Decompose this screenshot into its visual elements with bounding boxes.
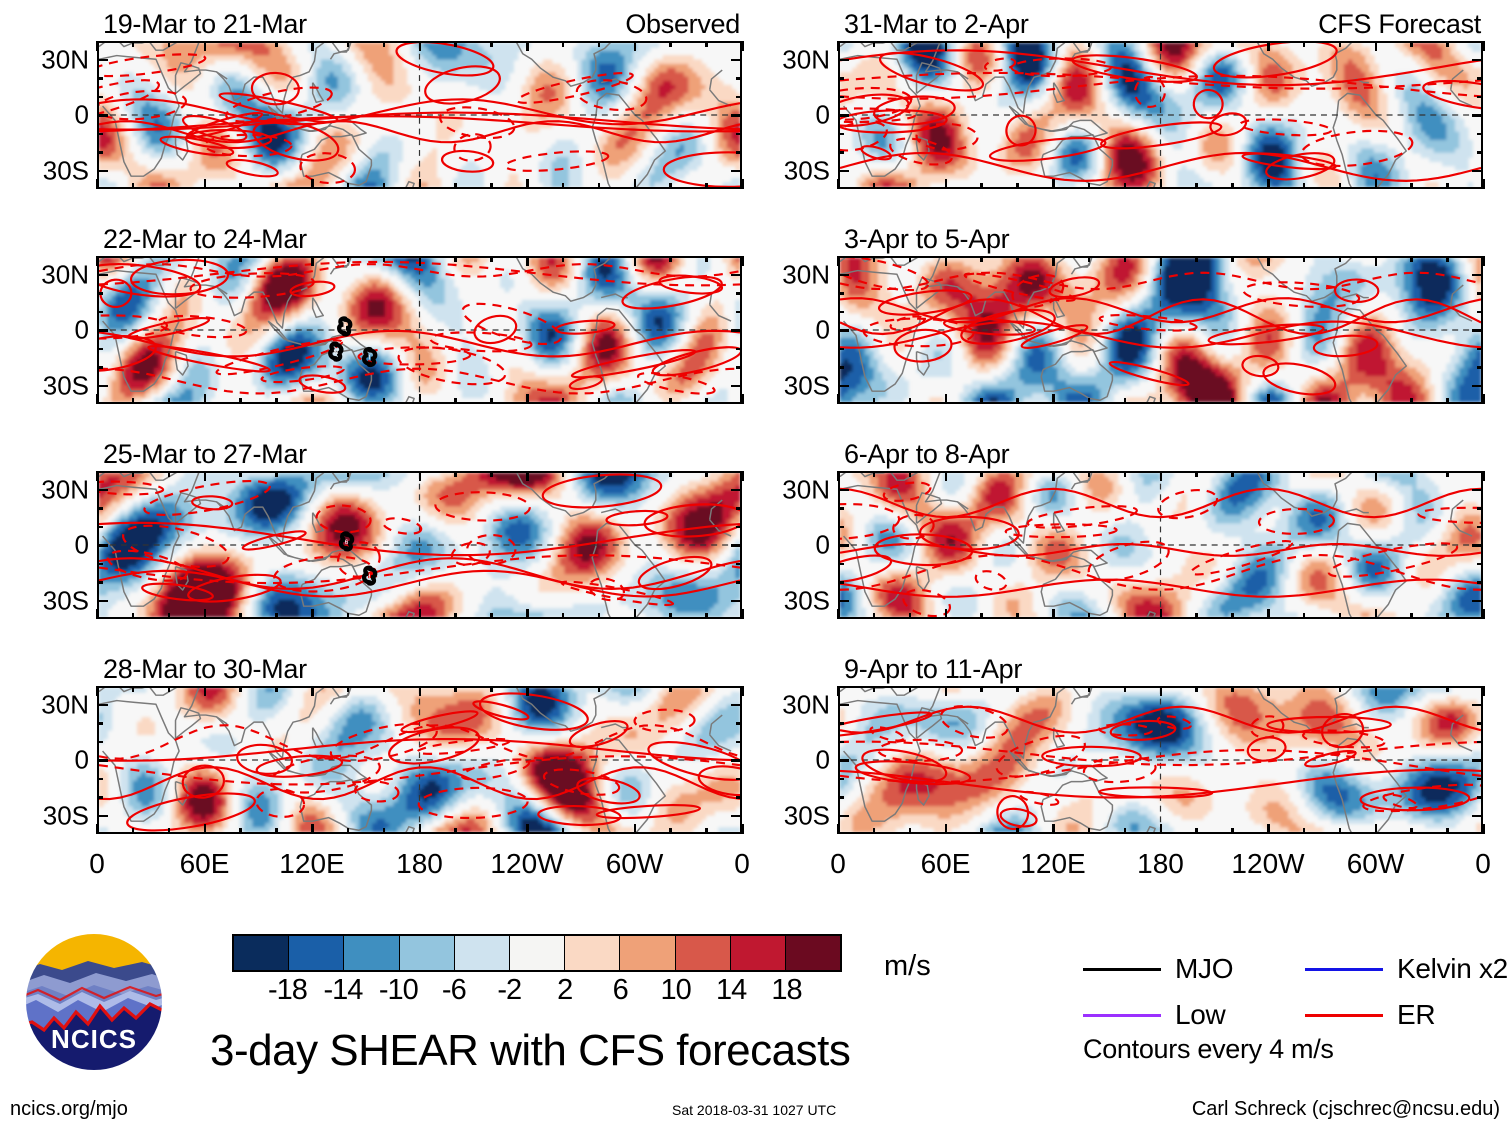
x-tick: [980, 828, 983, 834]
x-tick: [1124, 256, 1127, 262]
x-tick: [945, 179, 948, 189]
x-tick: [383, 613, 386, 619]
y-tick: [1477, 741, 1483, 744]
x-tick: [1446, 471, 1449, 477]
y-tick: [736, 96, 742, 99]
y-axis-tick-label: 0: [742, 745, 830, 776]
y-tick: [97, 704, 108, 707]
colorbar-units-label: m/s: [884, 950, 931, 983]
x-tick: [275, 398, 278, 404]
x-tick: [598, 183, 601, 189]
x-tick: [1303, 828, 1306, 834]
x-tick: [1267, 256, 1270, 266]
y-tick: [736, 77, 742, 80]
x-tick: [562, 41, 565, 47]
y-tick: [736, 778, 742, 781]
y-axis-tick-label: 0: [742, 315, 830, 346]
x-tick: [311, 824, 314, 834]
y-tick: [1477, 366, 1483, 369]
y-tick: [838, 759, 849, 762]
y-tick: [731, 170, 742, 173]
x-tick: [1016, 398, 1019, 404]
x-tick: [490, 828, 493, 834]
shear-anomaly-field: [840, 258, 1481, 402]
legend-line-swatch: [1305, 968, 1383, 971]
colorbar-tick-label: 6: [613, 974, 628, 1007]
y-tick: [838, 796, 844, 799]
x-tick: [1160, 394, 1163, 404]
y-axis-tick-label: 30S: [742, 800, 830, 831]
x-tick: [669, 183, 672, 189]
y-tick: [97, 815, 108, 818]
x-tick: [1195, 183, 1198, 189]
x-tick: [1339, 256, 1342, 262]
x-tick: [1088, 41, 1091, 47]
x-tick: [311, 256, 314, 266]
y-tick: [731, 114, 742, 117]
x-tick: [1446, 828, 1449, 834]
x-tick: [1160, 471, 1163, 481]
x-tick: [909, 686, 912, 692]
x-tick: [419, 609, 422, 619]
y-tick: [838, 96, 844, 99]
x-tick: [1231, 828, 1234, 834]
y-tick: [97, 59, 108, 62]
y-tick: [1477, 563, 1483, 566]
x-tick: [275, 828, 278, 834]
y-tick: [97, 292, 103, 295]
y-tick: [838, 741, 844, 744]
x-tick: [383, 828, 386, 834]
x-axis-tick-label: 120E: [1020, 848, 1085, 880]
y-tick: [736, 311, 742, 314]
x-tick: [1303, 183, 1306, 189]
panel-title: 19-Mar to 21-Mar: [103, 9, 307, 40]
x-tick: [490, 686, 493, 692]
y-tick: [97, 311, 103, 314]
x-tick: [1124, 686, 1127, 692]
y-tick: [838, 274, 849, 277]
x-tick: [1160, 41, 1163, 51]
y-tick: [838, 366, 844, 369]
x-tick: [96, 256, 99, 266]
x-tick: [311, 41, 314, 51]
x-tick: [598, 613, 601, 619]
x-tick: [1303, 471, 1306, 477]
y-axis-tick-label: 30S: [1, 585, 89, 616]
x-tick: [1160, 609, 1163, 619]
panel-grid: 19-Mar to 21-MarObserved22-Mar to 24-Mar…: [0, 0, 1510, 900]
x-tick: [1410, 471, 1413, 477]
panel-title: 31-Mar to 2-Apr: [844, 9, 1029, 40]
x-tick: [490, 256, 493, 262]
x-tick: [204, 179, 207, 189]
x-tick: [1231, 398, 1234, 404]
x-tick: [980, 613, 983, 619]
x-tick: [1195, 613, 1198, 619]
x-tick: [132, 398, 135, 404]
y-axis-tick-label: 0: [1, 530, 89, 561]
y-tick: [838, 133, 844, 136]
x-tick: [454, 686, 457, 692]
map-frame: [97, 686, 742, 834]
x-tick: [598, 41, 601, 47]
x-tick: [1052, 256, 1055, 266]
x-axis-tick-label: 60W: [1347, 848, 1405, 880]
x-tick: [1446, 398, 1449, 404]
footer-website[interactable]: ncics.org/mjo: [10, 1098, 128, 1121]
x-tick: [1124, 613, 1127, 619]
x-tick: [419, 256, 422, 266]
panel-title: 28-Mar to 30-Mar: [103, 654, 307, 685]
x-tick: [1088, 183, 1091, 189]
y-tick: [1472, 385, 1483, 388]
x-tick: [454, 828, 457, 834]
x-axis-tick-label: 0: [830, 848, 846, 880]
y-tick: [838, 722, 844, 725]
x-tick: [1088, 471, 1091, 477]
x-tick: [1267, 394, 1270, 404]
y-axis-tick-label: 30S: [1, 155, 89, 186]
x-tick: [598, 828, 601, 834]
y-axis-tick-label: 30N: [742, 474, 830, 505]
x-tick: [669, 471, 672, 477]
y-tick: [97, 329, 108, 332]
x-tick: [1052, 179, 1055, 189]
x-tick: [1052, 686, 1055, 696]
x-tick: [383, 183, 386, 189]
x-tick: [1446, 613, 1449, 619]
shear-anomaly-field: [840, 688, 1481, 832]
y-tick: [97, 151, 103, 154]
x-tick: [347, 256, 350, 262]
colorbar-cell: [234, 936, 289, 970]
y-tick: [97, 274, 108, 277]
x-tick: [837, 394, 840, 404]
ncics-logo[interactable]: NCICS: [18, 928, 170, 1080]
x-tick: [1124, 398, 1127, 404]
y-tick: [1477, 96, 1483, 99]
y-tick: [1472, 114, 1483, 117]
y-tick: [1472, 704, 1483, 707]
x-tick: [1303, 686, 1306, 692]
x-tick: [873, 256, 876, 262]
x-tick: [1482, 824, 1485, 834]
y-tick: [97, 563, 103, 566]
x-tick: [562, 686, 565, 692]
x-tick: [239, 686, 242, 692]
map-frame: JNI: [97, 256, 742, 404]
y-tick: [838, 329, 849, 332]
y-tick: [838, 77, 844, 80]
ncics-logo-text: NCICS: [18, 1024, 170, 1055]
x-tick: [132, 471, 135, 477]
y-axis-tick-label: 30N: [1, 689, 89, 720]
map-frame: [97, 41, 742, 189]
x-tick: [526, 256, 529, 266]
x-tick: [1482, 394, 1485, 404]
x-tick: [204, 824, 207, 834]
x-tick: [239, 398, 242, 404]
x-tick: [1303, 613, 1306, 619]
x-tick: [598, 398, 601, 404]
x-tick: [132, 183, 135, 189]
x-tick: [454, 471, 457, 477]
panel-title: 22-Mar to 24-Mar: [103, 224, 307, 255]
x-tick: [1088, 828, 1091, 834]
x-tick: [490, 183, 493, 189]
x-tick: [1231, 41, 1234, 47]
colorbar-tick-labels: -18-14-10-6-226101418: [232, 974, 842, 1010]
legend-line-swatch: [1305, 1014, 1383, 1017]
x-tick: [1052, 41, 1055, 51]
panel-title: 6-Apr to 8-Apr: [844, 439, 1009, 470]
x-tick: [1016, 613, 1019, 619]
y-axis-tick-label: 0: [742, 100, 830, 131]
x-tick: [945, 41, 948, 51]
x-tick: [837, 179, 840, 189]
y-tick: [1477, 581, 1483, 584]
x-tick: [1195, 686, 1198, 692]
y-axis-tick-label: 0: [1, 745, 89, 776]
x-tick: [168, 41, 171, 47]
x-tick: [311, 394, 314, 404]
x-tick: [168, 828, 171, 834]
x-tick: [454, 398, 457, 404]
legend-line-swatch: [1083, 1014, 1161, 1017]
x-tick: [1482, 471, 1485, 481]
y-tick: [838, 292, 844, 295]
x-tick: [419, 471, 422, 481]
y-tick: [1477, 151, 1483, 154]
colorbar-tick-label: 10: [660, 974, 690, 1007]
x-tick: [945, 394, 948, 404]
x-axis-tick-label: 0: [1475, 848, 1491, 880]
y-axis-tick-label: 0: [742, 530, 830, 561]
x-tick: [562, 256, 565, 262]
legend-label: MJO: [1175, 953, 1233, 985]
x-tick: [1195, 471, 1198, 477]
shear-anomaly-field: [99, 43, 740, 187]
x-tick: [980, 686, 983, 692]
x-tick: [132, 41, 135, 47]
x-tick: [705, 686, 708, 692]
y-tick: [1477, 507, 1483, 510]
x-tick: [1052, 394, 1055, 404]
x-tick: [96, 686, 99, 696]
x-tick: [347, 828, 350, 834]
y-tick: [736, 796, 742, 799]
x-tick: [419, 179, 422, 189]
legend-label: Kelvin x2: [1397, 953, 1508, 985]
x-tick: [275, 41, 278, 47]
x-tick: [669, 828, 672, 834]
x-tick: [1267, 179, 1270, 189]
x-tick: [837, 471, 840, 481]
x-axis-tick-label: 60E: [180, 848, 230, 880]
x-tick: [562, 183, 565, 189]
x-axis-tick-label: 60E: [921, 848, 971, 880]
x-tick: [1231, 686, 1234, 692]
x-tick: [980, 256, 983, 262]
x-tick: [1446, 183, 1449, 189]
x-tick: [275, 256, 278, 262]
x-tick: [669, 613, 672, 619]
y-axis-tick-label: 30N: [1, 44, 89, 75]
colorbar-cell: [400, 936, 455, 970]
x-tick: [1088, 686, 1091, 692]
x-tick: [634, 394, 637, 404]
y-tick: [1472, 274, 1483, 277]
x-tick: [1016, 183, 1019, 189]
y-tick: [731, 59, 742, 62]
x-tick: [1339, 613, 1342, 619]
y-tick: [97, 581, 103, 584]
colorbar-cell: [676, 936, 731, 970]
x-tick: [1446, 686, 1449, 692]
y-tick: [97, 385, 108, 388]
y-tick: [736, 348, 742, 351]
y-tick: [731, 704, 742, 707]
x-tick: [1375, 471, 1378, 481]
map-frame: [838, 256, 1483, 404]
x-tick: [1231, 613, 1234, 619]
map-panel: 6-Apr to 8-Apr: [838, 471, 1483, 619]
x-tick: [945, 471, 948, 481]
footer-author[interactable]: Carl Schreck (cjschrec@ncsu.edu): [1192, 1098, 1500, 1121]
y-tick: [731, 489, 742, 492]
x-tick: [1267, 609, 1270, 619]
y-tick: [731, 759, 742, 762]
colorbar-tick-label: -10: [379, 974, 418, 1007]
x-tick: [705, 613, 708, 619]
y-tick: [736, 741, 742, 744]
y-tick: [97, 741, 103, 744]
x-tick: [132, 686, 135, 692]
x-axis-tick-label: 180: [396, 848, 443, 880]
x-tick: [945, 256, 948, 266]
y-tick: [838, 600, 849, 603]
x-tick: [1375, 394, 1378, 404]
x-tick: [347, 183, 350, 189]
column-header: CFS Forecast: [1318, 9, 1481, 40]
x-tick: [1124, 471, 1127, 477]
x-tick: [1410, 686, 1413, 692]
x-axis-tick-label: 60W: [606, 848, 664, 880]
y-tick: [736, 151, 742, 154]
x-tick: [909, 471, 912, 477]
y-tick: [1472, 815, 1483, 818]
x-tick: [168, 398, 171, 404]
legend-entry: Kelvin x2: [1305, 952, 1508, 986]
x-tick: [239, 828, 242, 834]
x-tick: [526, 471, 529, 481]
x-tick: [873, 183, 876, 189]
x-tick: [1410, 41, 1413, 47]
x-tick: [1375, 256, 1378, 266]
x-tick: [909, 398, 912, 404]
y-tick: [97, 796, 103, 799]
x-tick: [1339, 398, 1342, 404]
x-tick: [562, 828, 565, 834]
y-tick: [1472, 759, 1483, 762]
x-tick: [275, 613, 278, 619]
x-tick: [419, 824, 422, 834]
y-tick: [1477, 722, 1483, 725]
y-tick: [97, 759, 108, 762]
y-tick: [1477, 311, 1483, 314]
y-axis-tick-label: 30N: [1, 259, 89, 290]
x-tick: [634, 179, 637, 189]
x-tick: [1303, 256, 1306, 262]
x-tick: [562, 398, 565, 404]
main-title: 3-day SHEAR with CFS forecasts: [210, 1026, 850, 1076]
x-tick: [204, 256, 207, 266]
x-tick: [634, 256, 637, 266]
x-tick: [1482, 609, 1485, 619]
colorbar-tick-label: -6: [442, 974, 466, 1007]
y-tick: [731, 544, 742, 547]
x-tick: [873, 613, 876, 619]
y-tick: [731, 600, 742, 603]
x-tick: [1195, 256, 1198, 262]
x-tick: [204, 471, 207, 481]
x-tick: [909, 613, 912, 619]
y-tick: [97, 778, 103, 781]
x-tick: [168, 686, 171, 692]
x-tick: [239, 613, 242, 619]
y-axis-tick-label: 0: [1, 315, 89, 346]
y-tick: [731, 274, 742, 277]
x-tick: [239, 471, 242, 477]
x-tick: [1124, 183, 1127, 189]
y-tick: [97, 507, 103, 510]
x-tick: [311, 609, 314, 619]
x-tick: [1088, 398, 1091, 404]
x-tick: [909, 41, 912, 47]
y-axis-tick-label: 30N: [742, 259, 830, 290]
x-tick: [454, 613, 457, 619]
x-tick: [526, 609, 529, 619]
x-tick: [275, 686, 278, 692]
x-axis-tick-label: 0: [89, 848, 105, 880]
x-tick: [96, 471, 99, 481]
x-tick: [1195, 828, 1198, 834]
x-tick: [634, 686, 637, 696]
y-tick: [97, 96, 103, 99]
y-tick: [838, 311, 844, 314]
x-tick: [1124, 41, 1127, 47]
y-tick: [736, 563, 742, 566]
colorbar-tick-label: -2: [497, 974, 521, 1007]
y-axis-tick-label: 30S: [742, 585, 830, 616]
y-tick: [97, 489, 108, 492]
map-panel: 19-Mar to 21-MarObserved: [97, 41, 742, 189]
x-tick: [347, 41, 350, 47]
colorbar-cell: [289, 936, 344, 970]
colorbar-cell: [620, 936, 675, 970]
colorbar: -18-14-10-6-226101418: [232, 934, 842, 974]
y-tick: [838, 348, 844, 351]
y-tick: [1472, 329, 1483, 332]
colorbar-swatches: [232, 934, 842, 972]
x-axis-tick-label: 120W: [490, 848, 563, 880]
y-axis-tick-label: 30N: [742, 44, 830, 75]
y-tick: [838, 544, 849, 547]
x-tick: [239, 256, 242, 262]
colorbar-tick-label: 14: [716, 974, 746, 1007]
legend-entry: Low: [1083, 998, 1225, 1032]
